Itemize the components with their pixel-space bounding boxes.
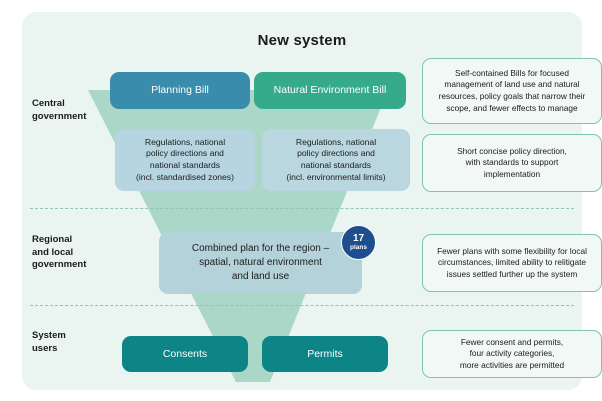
note-fewer-plans-line2: circumstances, limited ability to reliti… bbox=[437, 257, 587, 269]
regulations-left-line2: policy directions and bbox=[136, 148, 234, 160]
note-fewer-consents-line2: four activity categories, bbox=[460, 348, 564, 360]
combined-plan-box: Combined plan for the region – spatial, … bbox=[159, 232, 362, 294]
row-label-central-line2: government bbox=[32, 111, 116, 124]
note-fewer-consents-line3: more activities are permitted bbox=[460, 360, 564, 372]
permits-label: Permits bbox=[307, 348, 343, 361]
regulations-left-line4: (incl. standardised zones) bbox=[136, 172, 234, 184]
regulations-right-line2: policy directions and bbox=[286, 148, 385, 160]
note-bills-line2: management of land use and natural bbox=[439, 79, 586, 91]
row-label-central-line1: Central bbox=[32, 98, 116, 111]
regulations-right-box: Regulations, national policy directions … bbox=[262, 129, 410, 191]
note-policy-direction: Short concise policy direction, with sta… bbox=[422, 134, 602, 192]
row-label-regional-line1: Regional bbox=[32, 234, 116, 247]
regulations-right-line1: Regulations, national bbox=[286, 137, 385, 149]
consents-label: Consents bbox=[163, 348, 207, 361]
row-label-regional-line2: and local bbox=[32, 247, 116, 260]
note-fewer-consents-line1: Fewer consent and permits, bbox=[460, 337, 564, 349]
note-bills-line1: Self-contained Bills for focused bbox=[439, 68, 586, 80]
plans-count-number: 17 bbox=[353, 234, 364, 244]
row-label-central-government: Central government bbox=[32, 98, 116, 123]
row-label-system-users: System users bbox=[32, 330, 116, 355]
regulations-left-box: Regulations, national policy directions … bbox=[115, 129, 255, 191]
note-policy-line2: with standards to support bbox=[457, 157, 567, 169]
note-fewer-plans-line1: Fewer plans with some flexibility for lo… bbox=[437, 246, 587, 258]
regulations-left-line3: national standards bbox=[136, 160, 234, 172]
planning-bill-box: Planning Bill bbox=[110, 72, 250, 109]
note-fewer-plans-line3: issues settled further up the system bbox=[437, 269, 587, 281]
row-label-system-line2: users bbox=[32, 343, 116, 356]
note-bills-line3: resources, policy goals that narrow thei… bbox=[439, 91, 586, 103]
plans-count-badge: 17 plans bbox=[341, 225, 376, 260]
natural-environment-bill-box: Natural Environment Bill bbox=[254, 72, 406, 109]
note-bills-line4: scope, and fewer effects to manage bbox=[439, 103, 586, 115]
plans-count-label: plans bbox=[350, 245, 367, 252]
natural-environment-bill-label: Natural Environment Bill bbox=[274, 84, 387, 97]
row-label-system-line1: System bbox=[32, 330, 116, 343]
regulations-right-line3: national standards bbox=[286, 160, 385, 172]
separator-central-regional bbox=[30, 208, 574, 209]
permits-box: Permits bbox=[262, 336, 388, 372]
planning-bill-label: Planning Bill bbox=[151, 84, 209, 97]
note-fewer-consents: Fewer consent and permits, four activity… bbox=[422, 330, 602, 378]
diagram-panel: New system Central government Regional a… bbox=[22, 12, 582, 390]
note-policy-line3: implementation bbox=[457, 169, 567, 181]
regulations-right-line4: (incl. environmental limits) bbox=[286, 172, 385, 184]
note-bills: Self-contained Bills for focused managem… bbox=[422, 58, 602, 124]
diagram-canvas: New system Central government Regional a… bbox=[0, 0, 602, 401]
row-label-regional-local-government: Regional and local government bbox=[32, 234, 116, 272]
page-title: New system bbox=[22, 32, 582, 49]
consents-box: Consents bbox=[122, 336, 248, 372]
note-fewer-plans: Fewer plans with some flexibility for lo… bbox=[422, 234, 602, 292]
combined-plan-line3: and land use bbox=[192, 270, 329, 284]
row-label-regional-line3: government bbox=[32, 259, 116, 272]
separator-regional-system bbox=[30, 305, 574, 306]
combined-plan-line1: Combined plan for the region – bbox=[192, 242, 329, 256]
note-policy-line1: Short concise policy direction, bbox=[457, 146, 567, 158]
combined-plan-line2: spatial, natural environment bbox=[192, 256, 329, 270]
regulations-left-line1: Regulations, national bbox=[136, 137, 234, 149]
